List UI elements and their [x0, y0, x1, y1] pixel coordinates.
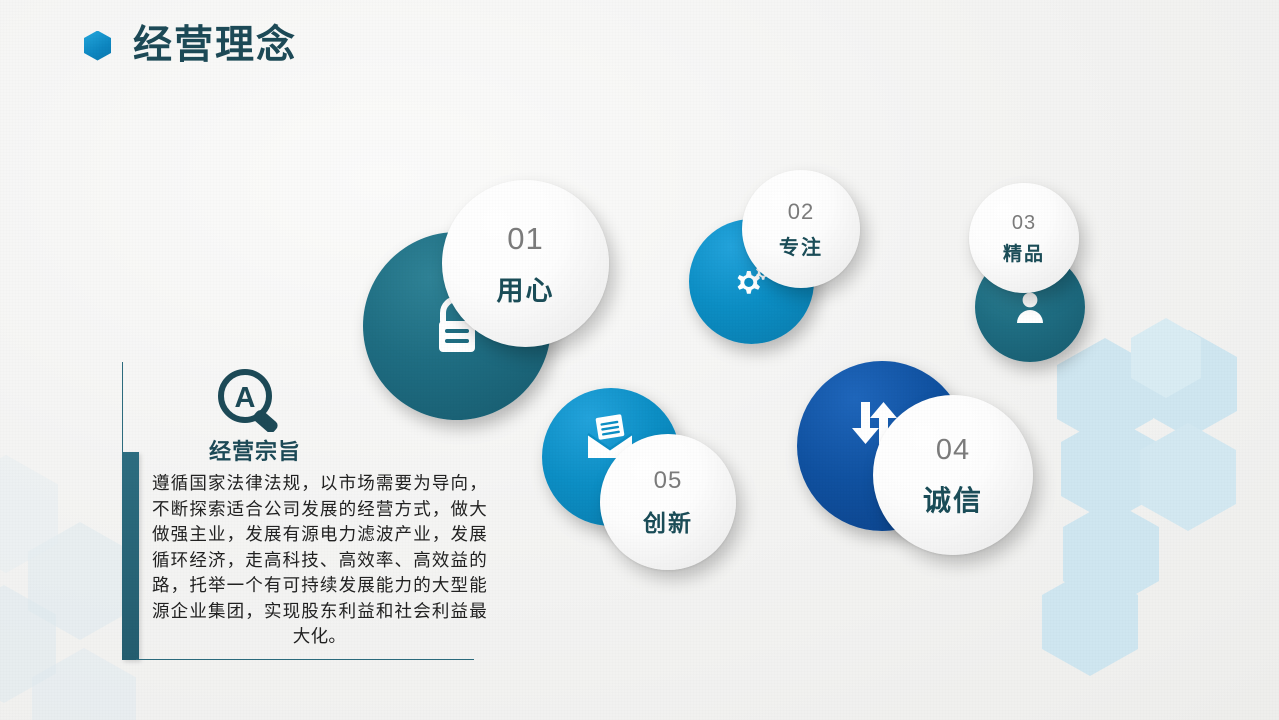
purpose-header: A 经营宗旨	[160, 368, 350, 466]
person-icon	[1014, 290, 1046, 324]
item-03-label-circle[interactable]: 03 精品	[969, 183, 1079, 293]
item-04-number: 04	[936, 436, 970, 465]
item-04-label-circle[interactable]: 04 诚信	[873, 395, 1033, 555]
panel-underline	[136, 659, 474, 660]
item-01-word: 用心	[497, 278, 555, 305]
item-05-number: 05	[654, 469, 683, 493]
item-01-label-circle[interactable]: 01 用心	[442, 180, 609, 347]
panel-accent-bar	[122, 452, 139, 660]
item-01-number: 01	[507, 223, 543, 254]
slide-canvas: 经营理念 A 经营宗旨 遵循国家法律法规，以市场需要为导向，不断探索适合公司发展…	[0, 0, 1279, 720]
page-title: 经营理念	[133, 26, 297, 65]
hexagon-decor-4	[1140, 423, 1236, 531]
item-04-word: 诚信	[923, 487, 983, 515]
item-02-word: 专注	[779, 238, 823, 258]
item-03-word: 精品	[1003, 245, 1045, 264]
purpose-body-text: 遵循国家法律法规，以市场需要为导向，不断探索适合公司发展的经营方式，做大做强主业…	[152, 472, 487, 651]
purpose-panel: A 经营宗旨 遵循国家法律法规，以市场需要为导向，不断探索适合公司发展的经营方式…	[122, 362, 487, 664]
item-03-number: 03	[1012, 213, 1036, 233]
item-05-word: 创新	[643, 512, 693, 535]
slide-header: 经营理念	[84, 26, 297, 65]
magnifier-a-icon: A	[212, 368, 298, 432]
hexagon-icon	[84, 31, 111, 61]
item-02-label-circle[interactable]: 02 专注	[742, 170, 860, 288]
purpose-label: 经营宗旨	[160, 434, 350, 466]
panel-thin-line	[122, 362, 123, 454]
item-02-number: 02	[788, 201, 814, 223]
magnifier-letter: A	[235, 382, 256, 414]
item-05-label-circle[interactable]: 05 创新	[600, 434, 736, 570]
